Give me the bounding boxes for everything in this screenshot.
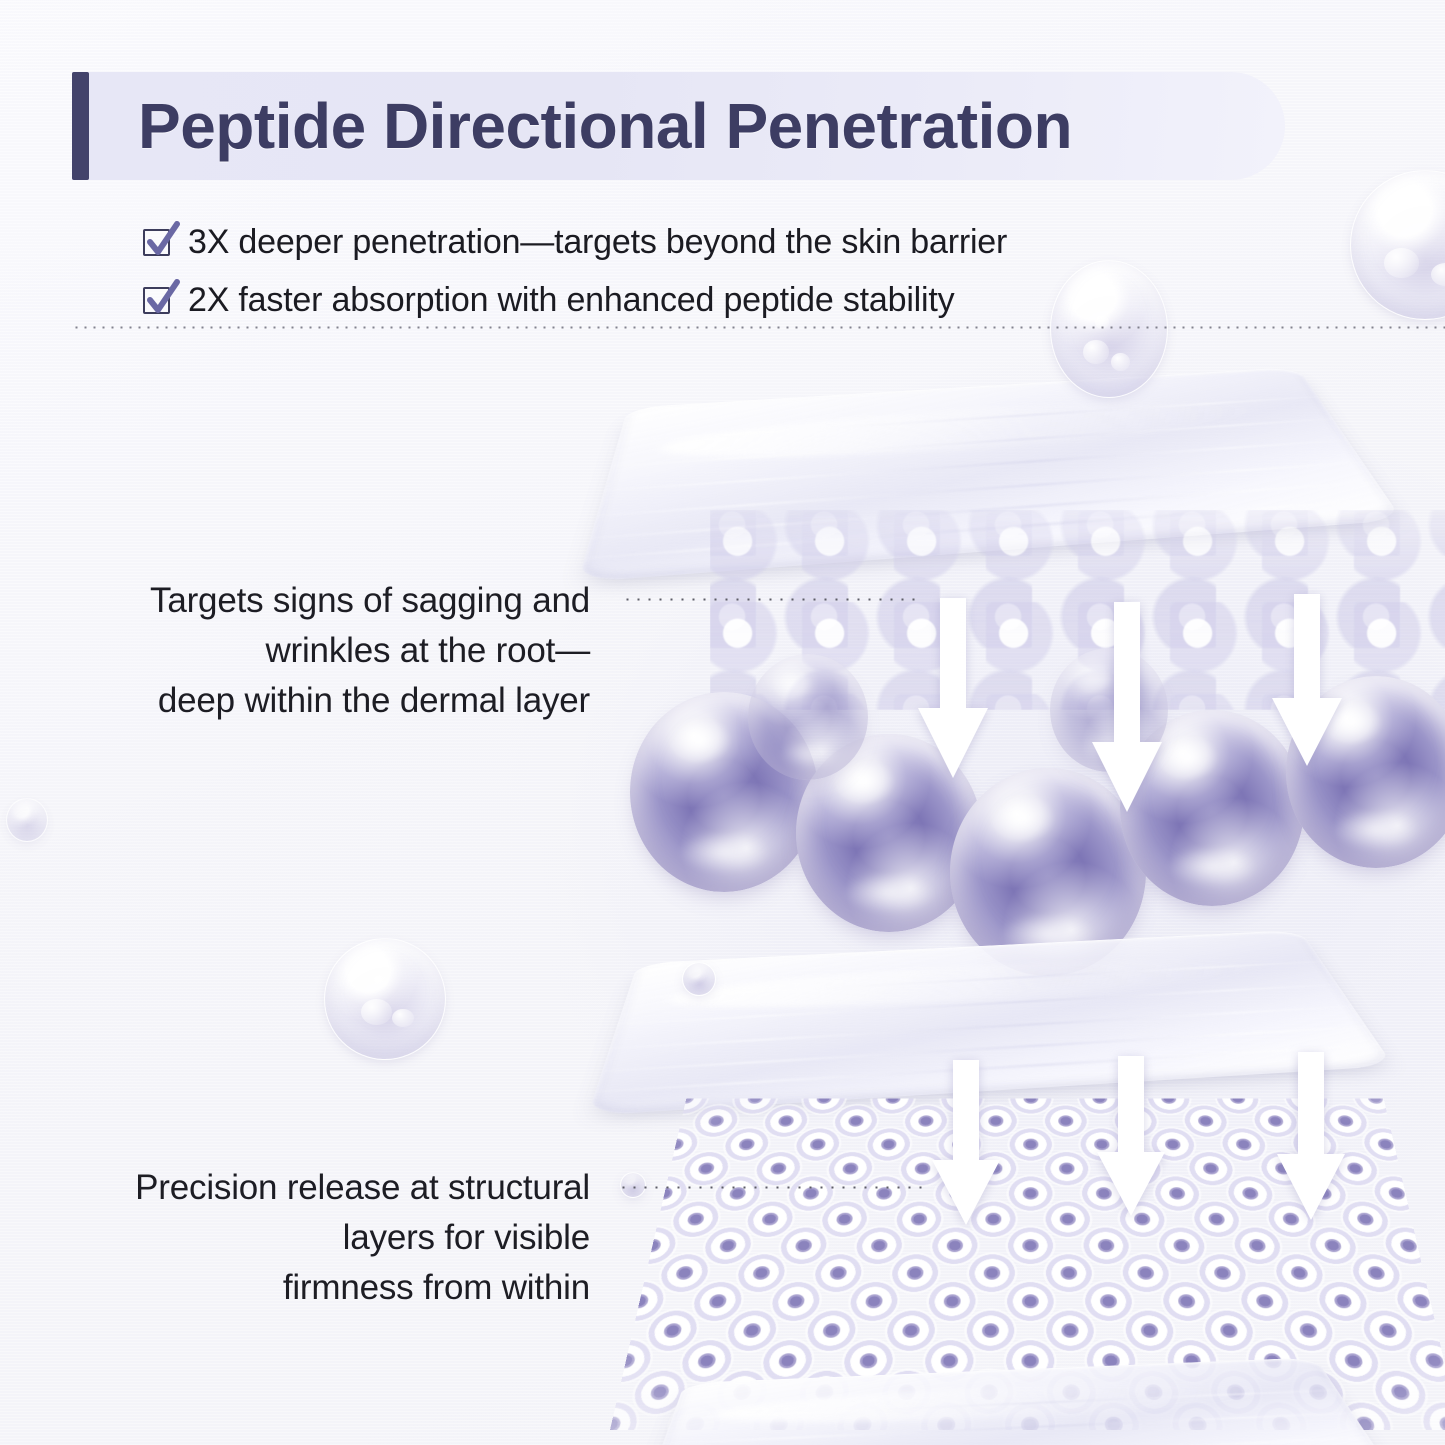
list-item: 3X deeper penetration—targets beyond the… bbox=[142, 216, 1007, 268]
list-item: 2X faster absorption with enhanced pepti… bbox=[142, 274, 1007, 326]
callout-leader-line bbox=[622, 598, 922, 601]
bullet-label: 3X deeper penetration—targets beyond the… bbox=[188, 223, 1007, 262]
penetration-arrow-down bbox=[1272, 594, 1342, 766]
callout-line: layers for visible bbox=[50, 1213, 590, 1263]
dermal-layer-callout: Targets signs of sagging and wrinkles at… bbox=[60, 576, 590, 726]
bullet-label: 2X faster absorption with enhanced pepti… bbox=[188, 281, 954, 320]
checkbox-checked-icon bbox=[142, 226, 174, 258]
callout-line: Targets signs of sagging and bbox=[60, 576, 590, 626]
page-title: Peptide Directional Penetration bbox=[138, 72, 1072, 180]
floating-bubble-small bbox=[682, 962, 716, 996]
infographic-canvas: Peptide Directional Penetration 3X deepe… bbox=[0, 0, 1445, 1445]
callout-line: deep within the dermal layer bbox=[60, 676, 590, 726]
background-droplet-left bbox=[6, 798, 48, 842]
callout-line: firmness from within bbox=[50, 1263, 590, 1313]
penetration-arrow-down bbox=[1092, 602, 1162, 812]
layered-peptide-penetration-illustration bbox=[560, 150, 1445, 1445]
floating-bubble bbox=[1050, 260, 1168, 398]
checkbox-checked-icon bbox=[142, 284, 174, 316]
section-divider bbox=[72, 326, 1445, 329]
title-accent-bar bbox=[72, 72, 89, 180]
callout-line: Precision release at structural bbox=[50, 1163, 590, 1213]
penetration-arrow-down bbox=[932, 1060, 1000, 1225]
background-bubble-left bbox=[324, 938, 446, 1060]
penetration-arrow-down bbox=[1277, 1052, 1345, 1220]
structural-layer-callout: Precision release at structural layers f… bbox=[50, 1163, 590, 1313]
floating-bubble-tiny bbox=[620, 1172, 646, 1198]
penetration-arrow-down bbox=[1097, 1056, 1165, 1216]
feature-bullet-list: 3X deeper penetration—targets beyond the… bbox=[142, 216, 1007, 326]
penetration-arrow-down bbox=[918, 598, 988, 778]
callout-leader-line bbox=[618, 1186, 928, 1189]
callout-line: wrinkles at the root— bbox=[60, 626, 590, 676]
floating-bubble-edge bbox=[1350, 170, 1445, 320]
